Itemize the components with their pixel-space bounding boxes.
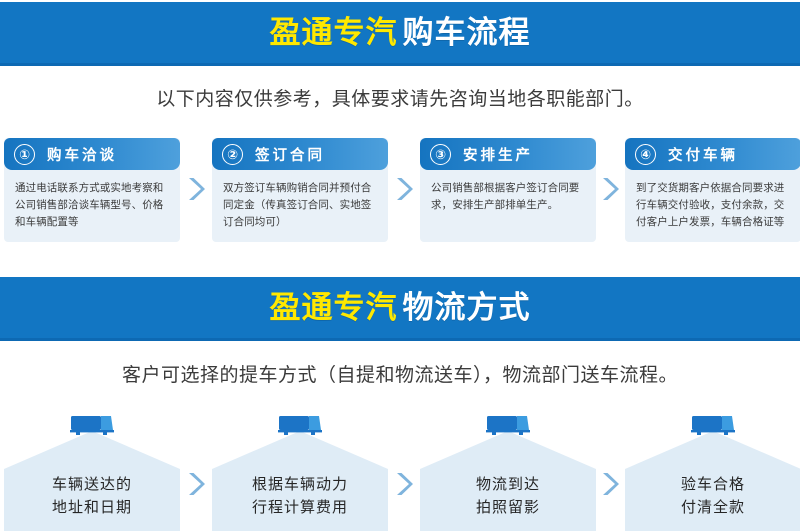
purchase-banner-subject: 购车流程 (403, 15, 531, 50)
step-body-2: 双方签订车辆购销合同并预付合同定金（传真签订合同、实地签订合同均可） (212, 170, 388, 231)
step-title-2: 签订合同 (255, 144, 325, 165)
chevron-right-icon (601, 471, 619, 497)
chevron-right-icon (395, 471, 413, 497)
step-body-3: 公司销售部根据客户签订合同要求，安排生产部排单生产。 (420, 170, 596, 214)
step-number-4: ④ (635, 144, 656, 165)
truck-icon (67, 413, 117, 439)
chevron-right-icon (187, 176, 205, 202)
truck-icon (483, 413, 533, 439)
step-body-1: 通过电话联系方式或实地考察和公司销售部洽谈车辆型号、价格和车辆配置等 (4, 170, 180, 231)
logistics-stage-4-line2: 付清全款 (625, 496, 800, 519)
step-card-1[interactable]: ① 购车洽谈 通过电话联系方式或实地考察和公司销售部洽谈车辆型号、价格和车辆配置… (4, 138, 180, 242)
step-header-2: ② 签订合同 (212, 138, 388, 170)
logistics-stage-3-line2: 拍照留影 (420, 496, 596, 519)
purchase-banner-title: 盈通专汽购车流程 (270, 17, 531, 48)
logistics-banner-title: 盈通专汽物流方式 (270, 292, 531, 323)
step-header-4: ④ 交付车辆 (625, 138, 800, 170)
logistics-stage-3[interactable]: 物流到达 拍照留影 (420, 431, 596, 531)
logistics-stage-2-line1: 根据车辆动力 (212, 473, 388, 496)
chevron-right-icon (601, 176, 619, 202)
purchase-steps: ① 购车洽谈 通过电话联系方式或实地考察和公司销售部洽谈车辆型号、价格和车辆配置… (0, 138, 800, 248)
purchase-banner: 盈通专汽购车流程 (0, 2, 800, 66)
logistics-stage-2[interactable]: 根据车辆动力 行程计算费用 (212, 431, 388, 531)
truck-icon (688, 413, 738, 439)
logistics-banner: 盈通专汽物流方式 (0, 277, 800, 341)
brand-name: 盈通专汽 (270, 15, 398, 50)
step-number-3: ③ (430, 144, 451, 165)
logistics-stage-1[interactable]: 车辆送达的 地址和日期 (4, 431, 180, 531)
step-number-2: ② (222, 144, 243, 165)
step-header-1: ① 购车洽谈 (4, 138, 180, 170)
purchase-caption: 以下内容仅供参考，具体要求请先咨询当地各职能部门。 (0, 84, 800, 111)
logistics-stage-4-line1: 验车合格 (625, 473, 800, 496)
step-header-3: ③ 安排生产 (420, 138, 596, 170)
logistics-stage-1-text: 车辆送达的 地址和日期 (4, 473, 180, 520)
brand-name: 盈通专汽 (270, 290, 398, 325)
step-card-2[interactable]: ② 签订合同 双方签订车辆购销合同并预付合同定金（传真签订合同、实地签订合同均可… (212, 138, 388, 242)
logistics-stage-2-text: 根据车辆动力 行程计算费用 (212, 473, 388, 520)
logistics-stage-1-line2: 地址和日期 (4, 496, 180, 519)
step-body-4: 到了交货期客户依据合同要求进行车辆交付验收，支付余款，交付客户上户发票，车辆合格… (625, 170, 800, 231)
truck-icon (275, 413, 325, 439)
step-card-4[interactable]: ④ 交付车辆 到了交货期客户依据合同要求进行车辆交付验收，支付余款，交付客户上户… (625, 138, 800, 242)
logistics-caption: 客户可选择的提车方式（自提和物流送车），物流部门送车流程。 (0, 360, 800, 387)
chevron-right-icon (395, 176, 413, 202)
logistics-stage-3-line1: 物流到达 (420, 473, 596, 496)
logistics-stage-2-line2: 行程计算费用 (212, 496, 388, 519)
step-title-3: 安排生产 (463, 144, 533, 165)
logistics-stage-1-line1: 车辆送达的 (4, 473, 180, 496)
step-title-4: 交付车辆 (668, 144, 738, 165)
step-number-1: ① (14, 144, 35, 165)
step-card-3[interactable]: ③ 安排生产 公司销售部根据客户签订合同要求，安排生产部排单生产。 (420, 138, 596, 242)
logistics-banner-subject: 物流方式 (403, 290, 531, 325)
logistics-stage-3-text: 物流到达 拍照留影 (420, 473, 596, 520)
logistics-stages: 车辆送达的 地址和日期 根据车辆动力 行程计算费用 (0, 415, 800, 531)
logistics-stage-4[interactable]: 验车合格 付清全款 (625, 431, 800, 531)
step-title-1: 购车洽谈 (47, 144, 117, 165)
chevron-right-icon (187, 471, 205, 497)
logistics-stage-4-text: 验车合格 付清全款 (625, 473, 800, 520)
